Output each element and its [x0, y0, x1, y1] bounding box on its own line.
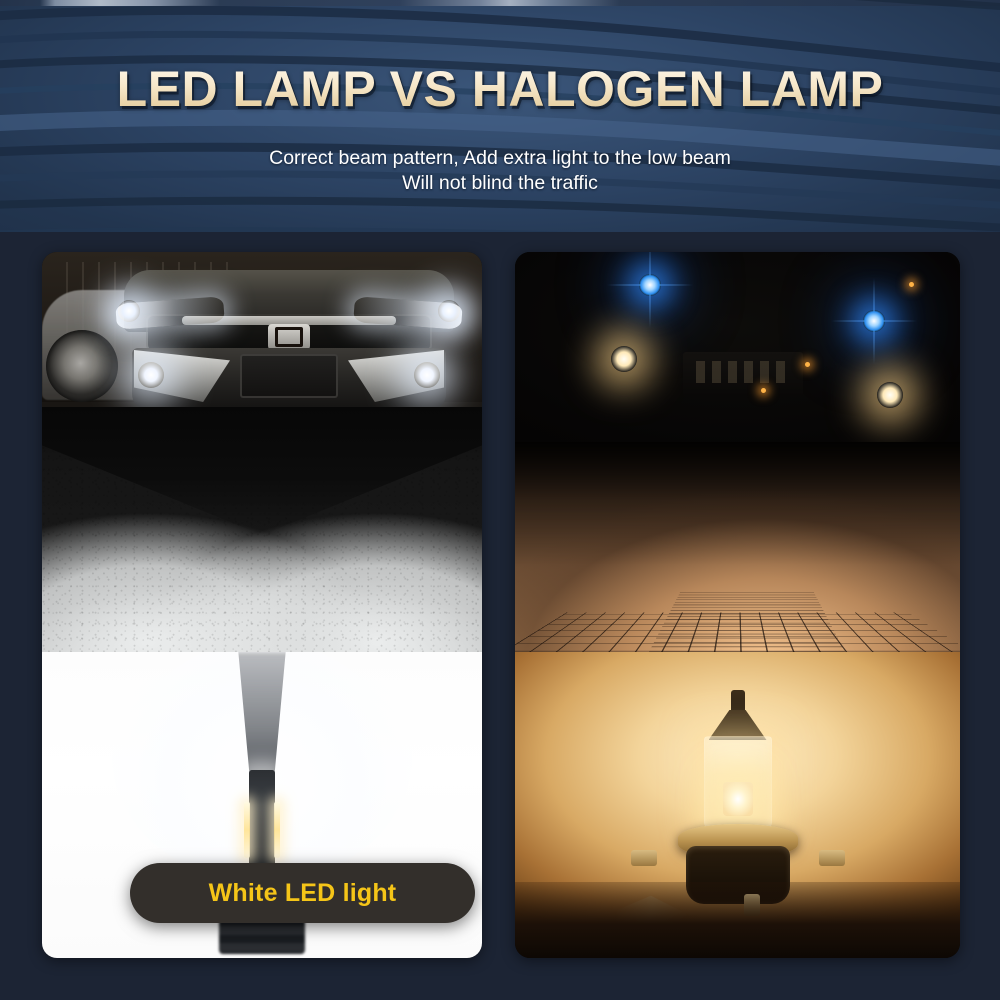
comparison-panels: White LED light: [0, 252, 1000, 958]
civic-front-end: [124, 270, 454, 420]
led-chip-left: [244, 802, 250, 858]
panel-led[interactable]: White LED light: [42, 252, 482, 958]
blue-accent-light-right: [863, 310, 885, 332]
led-beam-pattern: [42, 407, 482, 652]
amber-marker-a: [805, 362, 810, 367]
led-bulb-body: [249, 770, 275, 870]
amber-marker-c: [909, 282, 914, 287]
halogen-headlight-right: [877, 382, 903, 408]
brick-paving-surface: [515, 442, 960, 652]
led-chip-right: [274, 802, 280, 858]
subtitle-line-1: Correct beam pattern, Add extra light to…: [0, 146, 1000, 171]
halogen-filament-glow: [723, 782, 753, 816]
led-night-road-photo: [42, 252, 482, 652]
fog-light-left: [138, 362, 164, 388]
bulb-floor-shadow: [515, 882, 960, 958]
label-white-led-light[interactable]: White LED light: [130, 863, 475, 923]
halogen-tab-right: [819, 850, 845, 866]
honda-badge-icon: [268, 324, 310, 350]
license-plate: [240, 354, 338, 398]
led-light-cone: [225, 652, 299, 782]
subtitle-line-2: Will not blind the traffic: [0, 171, 1000, 196]
header-banner: LED LAMP VS HALOGEN LAMP Correct beam pa…: [0, 0, 1000, 232]
halogen-headlight-left: [611, 346, 637, 372]
paving-shadow-overlay: [515, 442, 960, 652]
halogen-bulb-photo: [515, 652, 960, 958]
headlight-core-left: [118, 300, 140, 322]
halogen-tab-left: [631, 850, 657, 866]
wheel-icon: [46, 330, 118, 402]
infographic-page: LED LAMP VS HALOGEN LAMP Correct beam pa…: [0, 0, 1000, 1000]
halogen-night-street-photo: [515, 252, 960, 652]
amber-marker-b: [761, 388, 766, 393]
panel-halogen[interactable]: yellow halogen lamp: [515, 252, 960, 958]
blue-accent-light-left: [639, 274, 661, 296]
fog-light-right: [414, 362, 440, 388]
license-plate: [683, 352, 803, 396]
page-title: LED LAMP VS HALOGEN LAMP: [0, 60, 1000, 118]
headlight-core-right: [438, 300, 460, 322]
page-subtitle: Correct beam pattern, Add extra light to…: [0, 146, 1000, 196]
